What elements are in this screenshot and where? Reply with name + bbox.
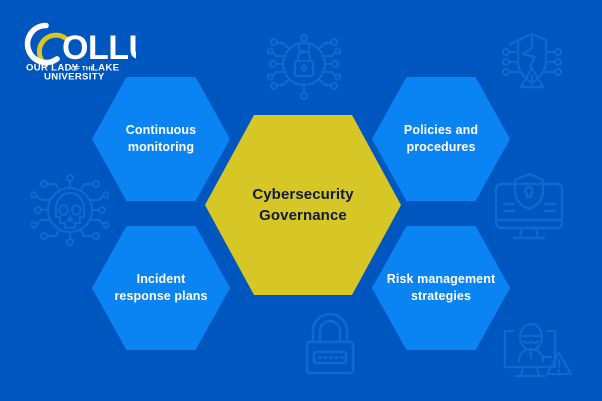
hex-node-risk-management-strategies[interactable]: Risk management strategies [372, 226, 510, 350]
hex-node-label: Continuous monitoring [114, 122, 208, 157]
hex-label-line2: strategies [411, 289, 471, 303]
skull-circuit-icon [26, 166, 114, 254]
logo-wordmark: OLLU [62, 29, 136, 67]
hex-label-line1: Policies and [404, 123, 478, 137]
hex-node-incident-response-plans[interactable]: Incident response plans [92, 226, 230, 350]
hex-center-label: Cybersecurity Governance [238, 184, 367, 227]
hex-center-cybersecurity-governance[interactable]: Cybersecurity Governance [205, 115, 401, 295]
hacker-monitor-warning-icon [493, 317, 579, 391]
hex-node-policies-and-procedures[interactable]: Policies and procedures [372, 77, 510, 201]
hex-label-line1: Incident [137, 272, 186, 286]
logo-tagline-line2: UNIVERSITY [44, 72, 105, 81]
infographic-canvas: OLLU OUR LADY OF THE LAKE UNIVERSITY Con… [0, 0, 602, 401]
ollu-logo: OLLU OUR LADY OF THE LAKE UNIVERSITY [24, 22, 136, 80]
padlock-password-icon [293, 308, 367, 386]
hex-node-label: Risk management strategies [385, 271, 497, 306]
hex-label-line2: monitoring [128, 140, 194, 154]
hex-center-label-line1: Cybersecurity [252, 186, 353, 203]
hex-node-label: Incident response plans [110, 271, 211, 306]
hex-label-line2: procedures [406, 140, 475, 154]
hex-label-line2: response plans [114, 289, 207, 303]
hex-label-line1: Risk management [387, 272, 495, 286]
monitor-shield-icon [484, 168, 574, 252]
broken-shield-warning-icon [490, 18, 574, 102]
hex-node-continuous-monitoring[interactable]: Continuous monitoring [92, 77, 230, 201]
hex-label-line1: Continuous [126, 123, 196, 137]
hex-center-label-line2: Governance [259, 207, 347, 224]
hex-node-label: Policies and procedures [392, 122, 490, 157]
circuit-lock-icon [262, 22, 346, 106]
